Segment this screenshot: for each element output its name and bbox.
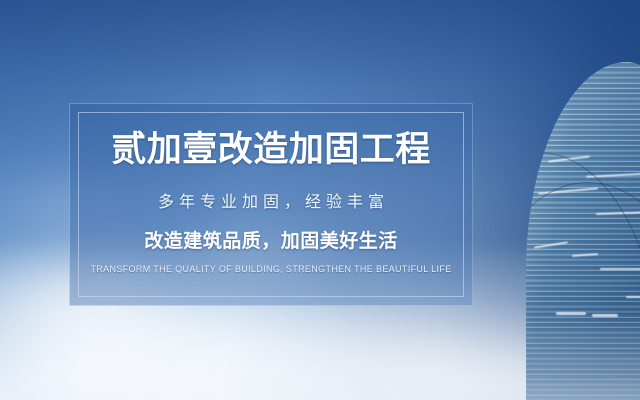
subtitle-text: 多年专业加固，经验丰富 [153, 188, 389, 212]
english-tagline-text: TRANSFORM THE QUALITY OF BUILDING, STREN… [90, 264, 451, 274]
panel-content: 贰加壹改造加固工程 多年专业加固，经验丰富 改造建筑品质，加固美好生活 TRAN… [70, 104, 472, 305]
skyscraper-base-mist [526, 312, 640, 400]
text-overlay-panel: 贰加壹改造加固工程 多年专业加固，经验丰富 改造建筑品质，加固美好生活 TRAN… [70, 104, 472, 305]
tagline-text: 改造建筑品质，加固美好生活 [144, 226, 398, 253]
skyscraper-body [526, 62, 640, 400]
page-title: 贰加壹改造加固工程 [111, 131, 431, 169]
skyscraper-image [520, 0, 640, 400]
promotional-banner: 贰加壹改造加固工程 多年专业加固，经验丰富 改造建筑品质，加固美好生活 TRAN… [0, 0, 640, 400]
